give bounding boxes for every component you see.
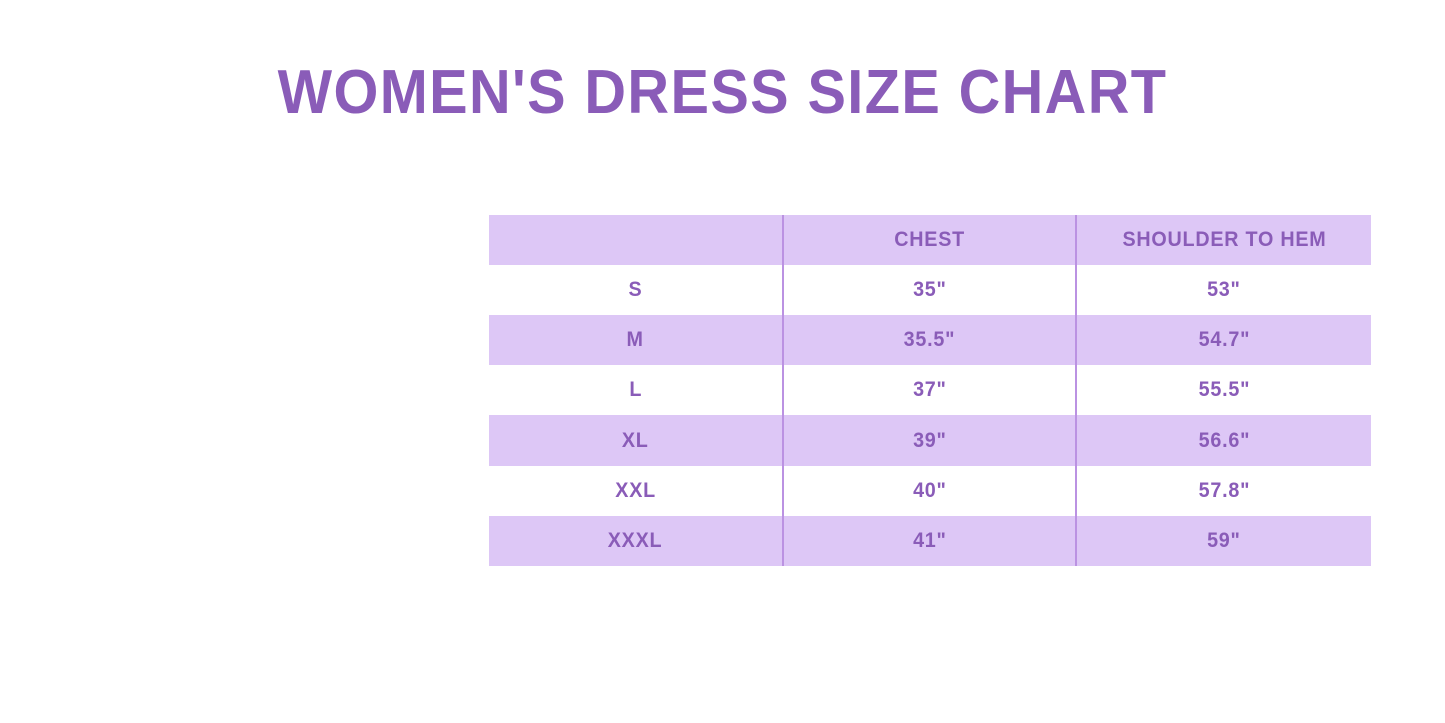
chest-value: 40" bbox=[913, 479, 947, 503]
cell-shoulder-to-hem: 54.7" bbox=[1076, 315, 1371, 365]
column-header-chest: CHEST bbox=[783, 215, 1076, 265]
cell-size: M bbox=[489, 315, 783, 365]
size-chart-table-container: CHEST SHOULDER TO HEM S 35" 53" bbox=[489, 215, 1371, 566]
shoulder-to-hem-value: 56.6" bbox=[1198, 429, 1250, 453]
cell-chest: 35" bbox=[783, 265, 1076, 315]
table-row: L 37" 55.5" bbox=[489, 365, 1371, 415]
table-row: M 35.5" 54.7" bbox=[489, 315, 1371, 365]
shoulder-to-hem-value: 54.7" bbox=[1198, 328, 1250, 352]
cell-shoulder-to-hem: 55.5" bbox=[1076, 365, 1371, 415]
size-label: XXL bbox=[615, 479, 656, 503]
cell-shoulder-to-hem: 53" bbox=[1076, 265, 1371, 315]
column-header-chest-label: CHEST bbox=[894, 228, 965, 252]
cell-chest: 35.5" bbox=[783, 315, 1076, 365]
table-row: XXL 40" 57.8" bbox=[489, 466, 1371, 516]
chest-value: 35.5" bbox=[904, 328, 956, 352]
shoulder-to-hem-value: 59" bbox=[1207, 529, 1241, 553]
column-header-shoulder-to-hem: SHOULDER TO HEM bbox=[1076, 215, 1371, 265]
cell-size: XXXL bbox=[489, 516, 783, 566]
column-header-shoulder-to-hem-label: SHOULDER TO HEM bbox=[1122, 228, 1326, 252]
cell-size: XXL bbox=[489, 466, 783, 516]
chest-value: 35" bbox=[913, 278, 947, 302]
size-label: XXXL bbox=[608, 529, 663, 553]
table-row: XL 39" 56.6" bbox=[489, 415, 1371, 465]
shoulder-to-hem-value: 53" bbox=[1207, 278, 1241, 302]
cell-chest: 40" bbox=[783, 466, 1076, 516]
size-label: S bbox=[629, 278, 643, 302]
cell-shoulder-to-hem: 56.6" bbox=[1076, 415, 1371, 465]
table-row: S 35" 53" bbox=[489, 265, 1371, 315]
page-title: WOMEN'S DRESS SIZE CHART bbox=[51, 58, 1395, 128]
cell-chest: 37" bbox=[783, 365, 1076, 415]
cell-size: L bbox=[489, 365, 783, 415]
cell-size: XL bbox=[489, 415, 783, 465]
cell-chest: 39" bbox=[783, 415, 1076, 465]
cell-chest: 41" bbox=[783, 516, 1076, 566]
shoulder-to-hem-value: 55.5" bbox=[1198, 378, 1250, 402]
chest-value: 39" bbox=[913, 429, 947, 453]
cell-shoulder-to-hem: 57.8" bbox=[1076, 466, 1371, 516]
cell-shoulder-to-hem: 59" bbox=[1076, 516, 1371, 566]
cell-size: S bbox=[489, 265, 783, 315]
size-label: M bbox=[627, 328, 644, 352]
table-header-row: CHEST SHOULDER TO HEM bbox=[489, 215, 1371, 265]
chest-value: 37" bbox=[913, 378, 947, 402]
table-body: S 35" 53" M 35.5" bbox=[489, 265, 1371, 566]
column-header-size bbox=[489, 215, 783, 265]
size-chart-table: CHEST SHOULDER TO HEM S 35" 53" bbox=[489, 215, 1371, 566]
table-row: XXXL 41" 59" bbox=[489, 516, 1371, 566]
table-header: CHEST SHOULDER TO HEM bbox=[489, 215, 1371, 265]
size-label: XL bbox=[622, 429, 649, 453]
size-label: L bbox=[629, 378, 642, 402]
size-chart-page: WOMEN'S DRESS SIZE CHART CHEST SHOULDER … bbox=[0, 0, 1445, 723]
chest-value: 41" bbox=[913, 529, 947, 553]
shoulder-to-hem-value: 57.8" bbox=[1198, 479, 1250, 503]
